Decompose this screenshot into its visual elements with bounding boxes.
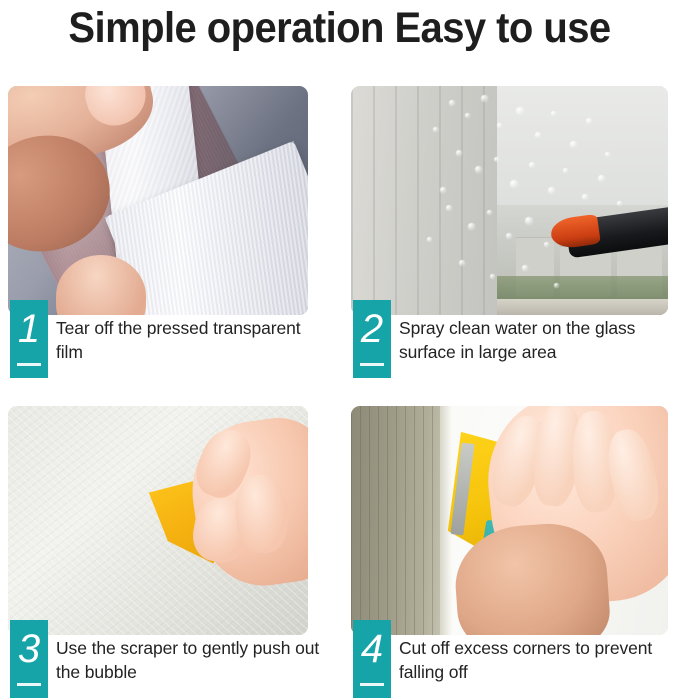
badge-underline-3 xyxy=(17,683,41,686)
step-number-3: 3 xyxy=(10,624,48,674)
step-number-2: 2 xyxy=(353,304,391,354)
page-title: Simple operation Easy to use xyxy=(24,2,655,54)
photo2-water-droplets xyxy=(351,86,668,315)
step-photo-3 xyxy=(8,406,308,635)
step-number-badge-3: 3 xyxy=(10,620,48,698)
step-photo-1 xyxy=(8,86,308,315)
step-caption-text-4: Cut off excess corners to prevent fallin… xyxy=(399,636,679,684)
badge-underline-2 xyxy=(360,363,384,366)
badge-underline-4 xyxy=(360,683,384,686)
steps-grid: 1 Tear off the pressed transparent film xyxy=(0,86,679,698)
step-caption-text-1: Tear off the pressed transparent film xyxy=(56,316,328,364)
step-number-badge-4: 4 xyxy=(353,620,391,698)
badge-underline-1 xyxy=(17,363,41,366)
step-caption-text-3: Use the scraper to gently push out the b… xyxy=(56,636,328,684)
step-card-2: 2 Spray clean water on the glass surface… xyxy=(351,86,671,386)
step-card-4: 4 Cut off excess corners to prevent fall… xyxy=(351,406,671,698)
step-card-1: 1 Tear off the pressed transparent film xyxy=(8,86,328,386)
step-number-badge-2: 2 xyxy=(353,300,391,378)
step-number-4: 4 xyxy=(353,624,391,674)
step-card-3: 3 Use the scraper to gently push out the… xyxy=(8,406,328,698)
step-caption-3: 3 Use the scraper to gently push out the… xyxy=(8,620,328,698)
step-caption-text-2: Spray clean water on the glass surface i… xyxy=(399,316,679,364)
step-photo-2 xyxy=(351,86,668,315)
step-photo-4 xyxy=(351,406,668,635)
product-instruction-page: Simple operation Easy to use 1 xyxy=(0,0,679,698)
step-caption-4: 4 Cut off excess corners to prevent fall… xyxy=(351,620,671,698)
photo4-window-frame xyxy=(351,406,446,635)
step-caption-2: 2 Spray clean water on the glass surface… xyxy=(351,300,671,386)
step-number-badge-1: 1 xyxy=(10,300,48,378)
step-number-1: 1 xyxy=(10,304,48,354)
step-caption-1: 1 Tear off the pressed transparent film xyxy=(8,300,328,386)
